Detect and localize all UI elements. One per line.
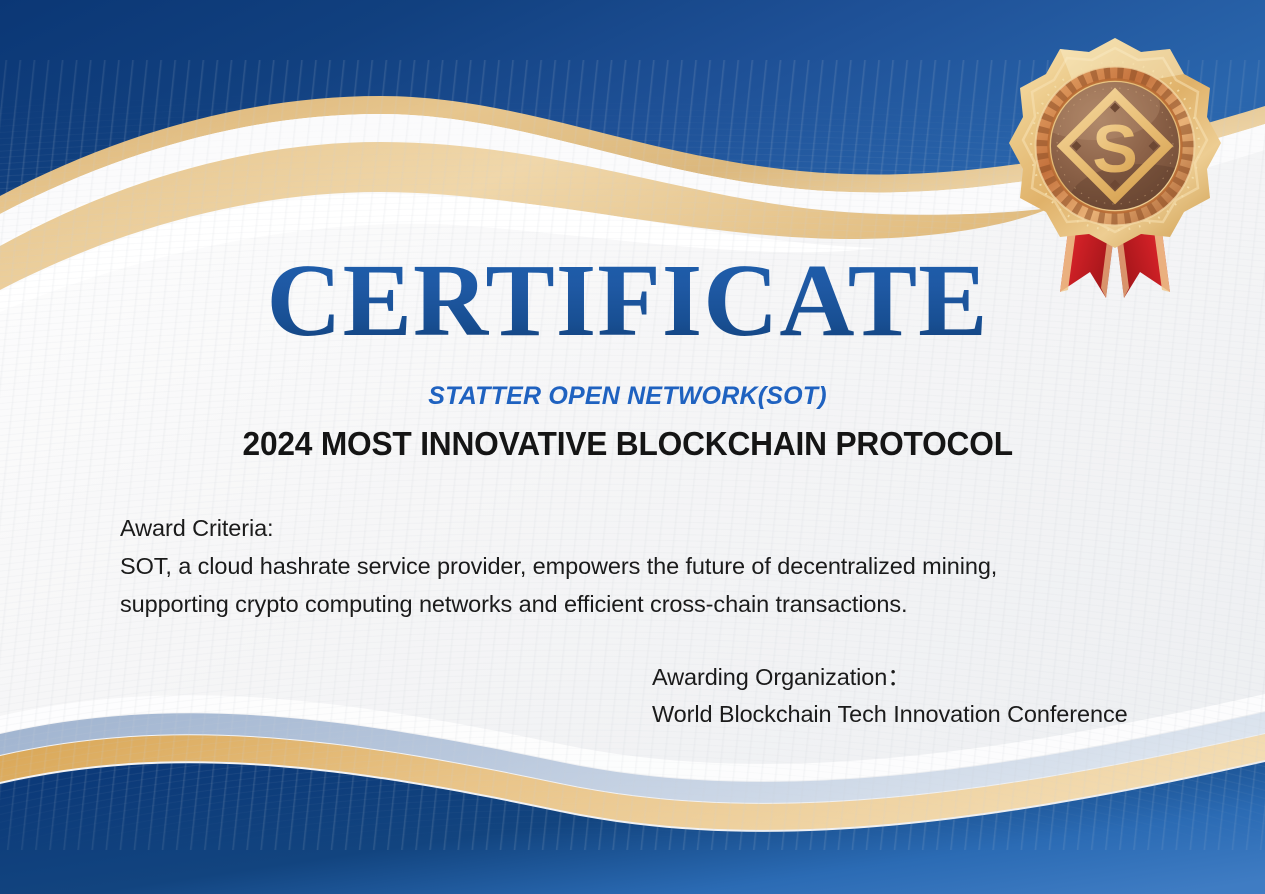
award-criteria-block: Award Criteria: SOT, a cloud hashrate se… — [120, 509, 1190, 623]
certificate-canvas: CERTIFICATE STATTER OPEN NETWORK(SOT) 20… — [0, 0, 1265, 894]
award-title: 2024 MOST INNOVATIVE BLOCKCHAIN PROTOCOL — [25, 425, 1239, 463]
award-seal-icon: S — [1002, 36, 1228, 311]
awarding-organization-label: Awarding Organization： — [652, 659, 1212, 696]
award-seal: S — [1002, 36, 1228, 311]
recipient-name: STATTER OPEN NETWORK(SOT) — [0, 382, 1265, 411]
awarding-organization-name: World Blockchain Tech Innovation Confere… — [652, 696, 1212, 733]
award-criteria-line-1: SOT, a cloud hashrate service provider, … — [120, 547, 1190, 585]
award-criteria-label: Award Criteria: — [120, 509, 1190, 547]
seal-monogram-letter: S — [1092, 111, 1137, 187]
award-criteria-line-2: supporting crypto computing networks and… — [120, 585, 1190, 623]
awarding-organization-block: Awarding Organization： World Blockchain … — [652, 659, 1212, 733]
